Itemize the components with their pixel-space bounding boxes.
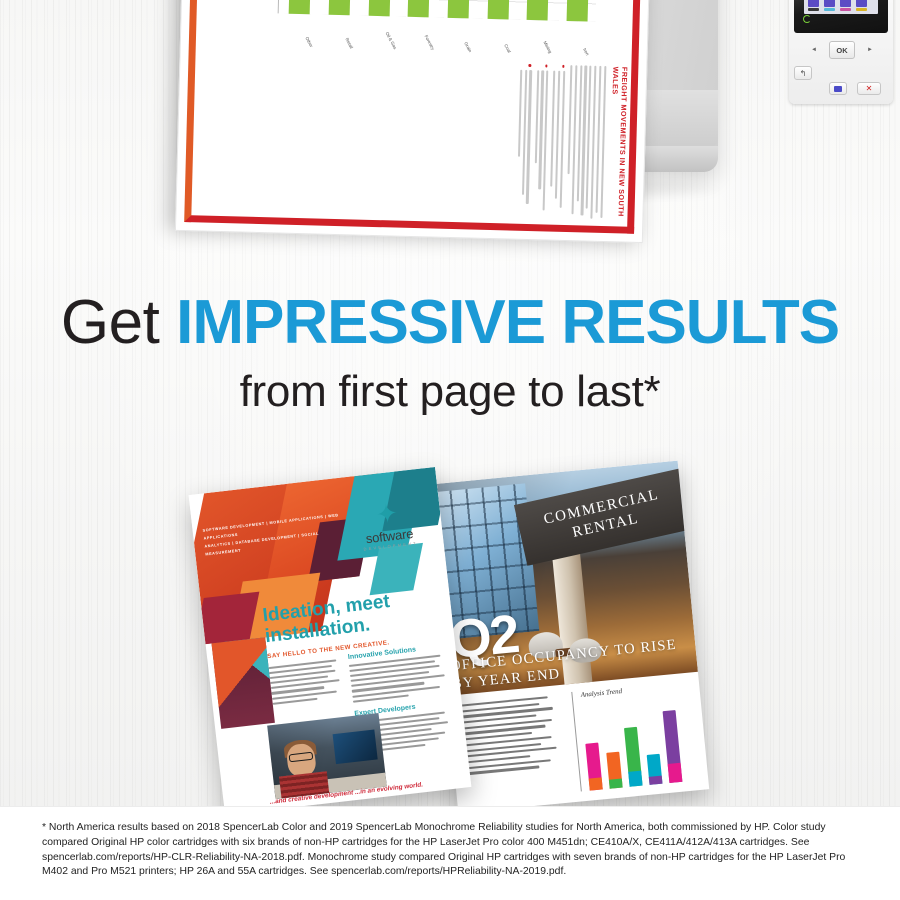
analysis-trend-bar-base: [668, 763, 683, 783]
analysis-trend-bar: [663, 710, 683, 783]
analysis-trend-bar-base: [649, 776, 663, 785]
analysis-trend-bars: [583, 704, 700, 790]
chart-bar-segment: [329, 0, 355, 16]
chart-bar-segment: [487, 0, 512, 20]
chart-category-label: Grain: [463, 41, 473, 53]
chart-category-label: Mining: [542, 41, 553, 55]
toner-indicator-black: [808, 0, 819, 11]
lower-geometric-graphic: [212, 637, 275, 729]
printer-lcd-display: Ready: [804, 0, 878, 14]
analysis-trend-bar-base: [609, 778, 623, 789]
commercial-rental-brochure: COMMERCIAL RENTAL Q2 OFFICE OCCUPANCY TO…: [427, 461, 709, 814]
document-chart-column: FREIGHT MODES F NSW ANNUAL PERCENTAGES F…: [199, 0, 636, 59]
document-page: FREIGHT MODES F NSW ANNUAL PERCENTAGES F…: [175, 0, 655, 243]
chart-bar-row: Iron: [566, 0, 592, 22]
job-button[interactable]: [829, 82, 847, 95]
monitor-graphic: [333, 730, 378, 765]
headline-block: Get IMPRESSIVE RESULTS from first page t…: [0, 292, 900, 414]
chart-bar-row: Coal: [487, 0, 513, 20]
chart-bar-row: Grain: [448, 0, 474, 19]
toner-indicator-magenta: [840, 0, 851, 11]
analysis-trend-bar: [624, 727, 643, 787]
chart-bar-row: Forestry: [408, 0, 434, 18]
document-bullet-2: [533, 65, 549, 220]
chart-bar-row: Retail: [329, 0, 355, 16]
brochure-left-column-a: [269, 659, 345, 708]
chart-category-label: Iron: [582, 47, 590, 56]
chart-bar-segment: [289, 0, 313, 15]
analysis-trend-bar: [647, 753, 663, 784]
analysis-trend-bar-base: [589, 777, 603, 790]
cancel-button[interactable]: ✕: [857, 82, 881, 95]
software-development-brochure: SOFTWARE DEVELOPMENT | MOBILE APPLICATIO…: [189, 467, 472, 815]
chart-category-label: Retail: [344, 37, 354, 49]
software-development-logo: software DEVELOPMENT: [347, 498, 430, 553]
chart-category-label: Other: [305, 36, 315, 48]
chart-category-label: Forestry: [424, 34, 436, 51]
legal-footnote: * North America results based on 2018 Sp…: [0, 806, 900, 900]
document-text-column: FREIGHT MOVEMENTS IN NEW SOUTH WALES: [194, 56, 628, 222]
chart-bar-segment: [368, 0, 392, 17]
toner-indicator-yellow: [856, 0, 867, 11]
printed-document: FREIGHT MODES F NSW ANNUAL PERCENTAGES F…: [175, 0, 655, 243]
ready-led-icon: [803, 15, 811, 23]
document-bullet-1: [550, 65, 566, 220]
left-arrow-icon[interactable]: ◄: [811, 47, 817, 53]
brochure-right-body-text: [456, 695, 567, 779]
chart-bar-row: Mining: [527, 0, 553, 21]
ok-button[interactable]: OK: [829, 41, 855, 59]
chart-category-label: Oil & Gas: [384, 31, 397, 50]
analysis-trend-bar-base: [628, 770, 642, 787]
chart-bar-row: Oil & Gas: [368, 0, 394, 17]
headline-line-1: Get IMPRESSIVE RESULTS: [0, 292, 900, 354]
toner-indicator-cyan: [824, 0, 835, 11]
chart-category-label: Coal: [503, 44, 512, 54]
right-arrow-icon[interactable]: ►: [867, 47, 873, 53]
headline-line-2: from first page to last*: [0, 370, 900, 414]
job-icon: [834, 86, 842, 92]
navigation-cluster[interactable]: ◄ OK ►: [811, 40, 873, 60]
chart-bar-segment: [527, 0, 551, 21]
chart-bar-segment: [408, 0, 434, 18]
document-body-text: [566, 65, 606, 221]
analysis-trend-chart: Analysis Trend: [571, 680, 700, 791]
marketing-poster: Ready ◄ OK ► ↰ ✕: [0, 0, 900, 900]
chart-plot-area: IronMiningCoalGrainForestryOil & GasReta…: [278, 0, 601, 22]
headline-emphasis: IMPRESSIVE RESULTS: [176, 288, 839, 357]
analysis-trend-title: Analysis Trend: [580, 687, 622, 699]
document-bullet-3: [516, 64, 532, 219]
freight-chart: 100%90%80%70%60%50%40%30%20%10%0 IronMin…: [263, 0, 602, 58]
footnote-text: * North America results based on 2018 Sp…: [42, 821, 858, 880]
printer-control-panel[interactable]: Ready ◄ OK ► ↰ ✕: [789, 0, 893, 104]
document-section-heading: FREIGHT MOVEMENTS IN NEW SOUTH WALES: [607, 67, 628, 222]
headline-prefix: Get: [61, 288, 176, 357]
back-button[interactable]: ↰: [794, 66, 812, 80]
chart-bar-segment: [566, 0, 590, 22]
analysis-trend-bar: [585, 742, 602, 790]
chart-bar-row: Other: [289, 0, 315, 15]
chart-bar-segment: [448, 0, 471, 19]
analysis-trend-bar: [606, 751, 622, 789]
toner-level-indicators: [808, 0, 867, 11]
